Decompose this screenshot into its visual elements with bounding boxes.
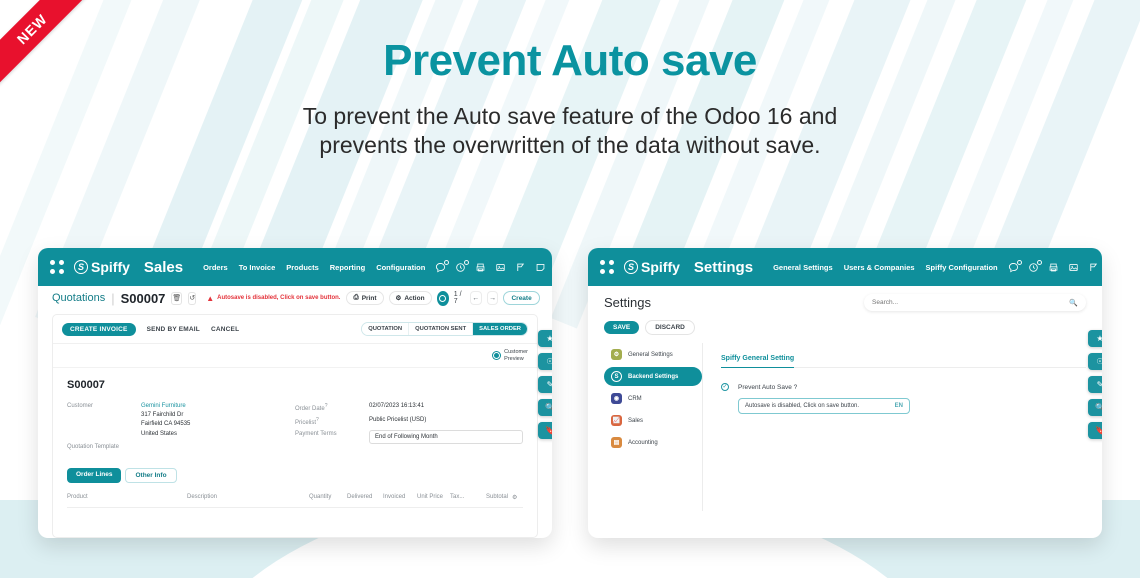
search-icon[interactable]: 🔍 — [1069, 299, 1078, 307]
record-title: S00007 — [67, 379, 523, 391]
tab-other-info[interactable]: Other Info — [125, 468, 176, 483]
navbar-menu: Orders To Invoice Products Reporting Con… — [203, 263, 425, 272]
sidebar-item-accounting[interactable]: ▤ Accounting — [604, 433, 702, 452]
menu-item-to-invoice[interactable]: To Invoice — [239, 263, 276, 272]
print-button[interactable]: ⎙ Print — [346, 291, 383, 305]
column-product: Product — [67, 494, 187, 501]
field-payment-terms-label: Payment Terms — [295, 430, 369, 437]
statusbar: CREATE INVOICE SEND BY EMAIL CANCEL QUOT… — [53, 315, 537, 344]
quotation-form: S00007 Customer Gemini Furniture 317 Fai… — [53, 368, 537, 454]
tab-order-lines[interactable]: Order Lines — [67, 468, 121, 483]
cancel-button[interactable]: CANCEL — [211, 326, 239, 333]
form-sheet: CREATE INVOICE SEND BY EMAIL CANCEL QUOT… — [52, 314, 538, 538]
customer-preview-button[interactable]: Customer Preview — [492, 349, 528, 363]
page-title: Prevent Auto save — [0, 36, 1140, 86]
gear-icon: ⚙ — [396, 294, 402, 302]
search-box[interactable]: 🔍 — [864, 294, 1086, 311]
note-icon[interactable] — [535, 262, 546, 273]
menu-item-products[interactable]: Products — [286, 263, 319, 272]
messages-badge — [444, 260, 449, 265]
send-by-email-button[interactable]: SEND BY EMAIL — [147, 326, 200, 333]
brand-logo[interactable]: S Spiffy — [624, 259, 680, 275]
column-subtotal: Subtotal — [486, 494, 508, 501]
field-customer-label: Customer — [67, 402, 141, 409]
field-customer-value-group: Gemini Furniture 317 Fairchild Dr Fairfi… — [141, 402, 190, 439]
column-unit-price: Unit Price — [417, 494, 450, 501]
breadcrumb-quotations[interactable]: Quotations — [52, 292, 105, 304]
breadcrumb-record: S00007 — [121, 291, 166, 306]
prevent-auto-save-checkbox[interactable]: ✓ — [721, 383, 729, 391]
activities-icon[interactable] — [455, 262, 466, 273]
hero-subtitle-line2: prevents the overwritten of the data wit… — [0, 131, 1140, 160]
pager-next-button[interactable]: → — [487, 291, 499, 305]
smart-button-bar: Customer Preview — [53, 344, 537, 368]
settings-header: Settings 🔍 — [588, 286, 1102, 311]
action-label: Action — [404, 295, 424, 302]
menu-item-users-companies[interactable]: Users & Companies — [844, 263, 915, 272]
customer-address-line3: United States — [141, 430, 190, 439]
search-circle-icon[interactable]: ☉ — [1088, 353, 1102, 370]
prevent-auto-save-label: Prevent Auto Save ? — [738, 384, 797, 391]
field-pricelist-label: Pricelist? — [295, 416, 369, 426]
pager-label: 1 / 7 — [454, 291, 465, 305]
field-order-date-value[interactable]: 02/07/2023 16:13:41 — [369, 402, 424, 411]
tab-spiffy-general-setting[interactable]: Spiffy General Setting — [721, 355, 794, 368]
crm-icon: ◉ — [611, 393, 622, 404]
edit-pencil-icon[interactable]: ✎ — [538, 376, 552, 393]
autosave-warning-text: Autosave is disabled, Click on save butt… — [217, 295, 340, 301]
customer-preview-label: Customer Preview — [504, 349, 528, 363]
sales-icon: 📈 — [611, 415, 622, 426]
field-customer-value[interactable]: Gemini Furniture — [141, 402, 190, 411]
menu-item-orders[interactable]: Orders — [203, 263, 228, 272]
screenshot-sales-quotation: S Spiffy Sales Orders To Invoice Product… — [38, 248, 552, 538]
sidebar-item-general-settings[interactable]: ⚙ General Settings — [604, 345, 702, 364]
field-order-date-label: Order Date? — [295, 402, 369, 412]
stage-quotation[interactable]: QUOTATION — [362, 323, 409, 335]
settings-sidebar: ⚙ General Settings S Backend Settings ◉ … — [604, 343, 702, 511]
print-label: Print — [362, 295, 377, 302]
zoom-search-icon[interactable]: 🔍 — [538, 399, 552, 416]
megaphone-icon[interactable] — [1088, 262, 1099, 273]
navbar-menu: General Settings Users & Companies Spiff… — [773, 263, 998, 272]
sidebar-item-sales-label: Sales — [628, 418, 643, 424]
form-column-right: Order Date? 02/07/2023 16:13:41 Pricelis… — [295, 402, 523, 454]
search-input[interactable] — [872, 299, 1069, 306]
spiffy-s-icon: S — [74, 260, 88, 274]
record-controls: ⎙ Print ⚙ Action 1 / 7 ← → Create — [346, 291, 539, 306]
form-sheet-wrapper: CREATE INVOICE SEND BY EMAIL CANCEL QUOT… — [38, 310, 552, 538]
action-button[interactable]: ⚙ Action — [389, 291, 432, 305]
navbar-settings: S Spiffy Settings General Settings Users… — [588, 248, 1102, 286]
trash-icon[interactable]: 🗑 — [171, 292, 182, 305]
form-columns: Customer Gemini Furniture 317 Fairchild … — [67, 402, 523, 454]
star-icon[interactable]: ★ — [538, 330, 552, 347]
search-circle-icon[interactable]: ☉ — [538, 353, 552, 370]
apps-grid-icon[interactable] — [50, 260, 64, 274]
customer-preview-line1: Customer — [504, 349, 528, 356]
undo-icon[interactable]: ↺ — [188, 292, 196, 305]
field-quotation-template: Quotation Template — [67, 443, 295, 450]
edit-pencil-icon[interactable]: ✎ — [1088, 376, 1102, 393]
printer-icon[interactable] — [1048, 262, 1059, 273]
field-pricelist: Pricelist? Public Pricelist (USD) — [295, 416, 523, 426]
pager-previous-button[interactable]: ← — [470, 291, 482, 305]
gallery-icon[interactable] — [495, 262, 506, 273]
sidebar-item-sales[interactable]: 📈 Sales — [604, 411, 702, 430]
printer-icon[interactable] — [475, 262, 486, 273]
create-button[interactable]: Create — [503, 291, 539, 305]
field-order-date: Order Date? 02/07/2023 16:13:41 — [295, 402, 523, 412]
gallery-icon[interactable] — [1068, 262, 1079, 273]
menu-item-configuration[interactable]: Configuration — [376, 263, 425, 272]
settings-action-bar: SAVE DISCARD — [588, 311, 1102, 343]
hero-subtitle: To prevent the Auto save feature of the … — [0, 102, 1140, 160]
activities-icon[interactable] — [1028, 262, 1039, 273]
activities-badge — [464, 260, 469, 265]
breadcrumb-separator: | — [111, 291, 114, 306]
settings-page-title: Settings — [604, 295, 651, 310]
printer-small-icon: ⎙ — [353, 294, 358, 302]
messages-icon[interactable] — [435, 262, 446, 273]
bookmark-icon[interactable]: 🔖 — [1088, 422, 1102, 439]
save-record-icon[interactable] — [437, 291, 449, 306]
floating-toolbar-right: ★ ☉ ✎ 🔍 🔖 — [1088, 330, 1102, 439]
stage-sales-order[interactable]: SALES ORDER — [473, 323, 527, 335]
autosave-message-input[interactable]: Autosave is disabled, Click on save butt… — [738, 398, 910, 414]
accounting-icon: ▤ — [611, 437, 622, 448]
settings-main-panel: Spiffy General Setting ✓ Prevent Auto Sa… — [702, 343, 1102, 511]
messages-icon[interactable] — [1008, 262, 1019, 273]
messages-badge — [1017, 260, 1022, 265]
prevent-auto-save-option: ✓ Prevent Auto Save ? — [721, 383, 1086, 391]
stage-pipeline: QUOTATION QUOTATION SENT SALES ORDER — [361, 322, 528, 336]
navbar-icons — [435, 258, 552, 276]
form-column-left: Customer Gemini Furniture 317 Fairchild … — [67, 402, 295, 454]
column-delivered: Delivered — [347, 494, 383, 501]
form-notebook-tabs: Order Lines Other Info — [67, 468, 523, 483]
customer-address-line1: 317 Fairchild Dr — [141, 411, 190, 420]
promo-banner: NEW Prevent Auto save To prevent the Aut… — [0, 0, 1140, 578]
sidebar-item-crm-label: CRM — [628, 396, 642, 402]
hero-section: Prevent Auto save To prevent the Auto sa… — [0, 36, 1140, 160]
spiffy-s-icon: S — [624, 260, 638, 274]
column-options-icon[interactable]: ⚙ — [512, 494, 517, 501]
discard-button[interactable]: DISCARD — [645, 320, 695, 335]
breadcrumb-bar: Quotations | S00007 🗑 ↺ ▲ Autosave is di… — [38, 286, 552, 310]
warning-triangle-icon: ▲ — [206, 294, 214, 303]
customer-address-line2: Fairfield CA 94535 — [141, 420, 190, 429]
autosave-message-value: Autosave is disabled, Click on save butt… — [745, 403, 895, 409]
general-settings-icon: ⚙ — [611, 349, 622, 360]
bookmark-icon[interactable]: 🔖 — [538, 422, 552, 439]
autosave-warning: ▲ Autosave is disabled, Click on save bu… — [206, 294, 340, 303]
sidebar-item-crm[interactable]: ◉ CRM — [604, 389, 702, 408]
globe-icon — [492, 351, 501, 360]
stage-quotation-sent[interactable]: QUOTATION SENT — [409, 323, 473, 335]
app-name-label: Settings — [694, 259, 753, 276]
column-tax: Tax... — [450, 494, 486, 501]
megaphone-icon[interactable] — [515, 262, 526, 273]
menu-item-reporting[interactable]: Reporting — [330, 263, 365, 272]
create-invoice-button[interactable]: CREATE INVOICE — [62, 323, 136, 336]
section-tab-row: Spiffy General Setting — [721, 347, 1086, 368]
navbar-sales: S Spiffy Sales Orders To Invoice Product… — [38, 248, 552, 286]
screenshot-settings: S Spiffy Settings General Settings Users… — [588, 248, 1102, 538]
column-invoiced: Invoiced — [383, 494, 417, 501]
sidebar-item-accounting-label: Accounting — [628, 440, 658, 446]
customer-preview-line2: Preview — [504, 356, 528, 363]
brand-name: Spiffy — [91, 259, 130, 275]
column-quantity: Quantity — [309, 494, 347, 501]
menu-item-spiffy-configuration[interactable]: Spiffy Configuration — [926, 263, 998, 272]
activities-badge — [1037, 260, 1042, 265]
brand-name: Spiffy — [641, 259, 680, 275]
sidebar-item-general-settings-label: General Settings — [628, 352, 673, 358]
field-customer: Customer Gemini Furniture 317 Fairchild … — [67, 402, 295, 439]
field-pricelist-value[interactable]: Public Pricelist (USD) — [369, 416, 426, 425]
hero-subtitle-line1: To prevent the Auto save feature of the … — [0, 102, 1140, 131]
apps-grid-icon[interactable] — [600, 260, 614, 274]
settings-body: ⚙ General Settings S Backend Settings ◉ … — [588, 343, 1102, 511]
sidebar-item-backend-settings-label: Backend Settings — [628, 374, 678, 380]
field-payment-terms: Payment Terms End of Following Month — [295, 430, 523, 444]
navbar-icons — [1008, 258, 1102, 276]
floating-toolbar-left: ★ ☉ ✎ 🔍 🔖 — [538, 330, 552, 439]
save-button[interactable]: SAVE — [604, 321, 639, 334]
order-lines-table-header: Product Description Quantity Delivered I… — [67, 494, 523, 508]
payment-terms-input[interactable]: End of Following Month — [369, 430, 523, 444]
app-name-label: Sales — [144, 259, 183, 276]
brand-logo[interactable]: S Spiffy — [74, 259, 130, 275]
column-description: Description — [187, 494, 309, 501]
menu-item-general-settings[interactable]: General Settings — [773, 263, 833, 272]
sidebar-item-backend-settings[interactable]: S Backend Settings — [604, 367, 702, 386]
backend-settings-icon: S — [611, 371, 622, 382]
language-badge[interactable]: EN — [895, 403, 903, 409]
field-quotation-template-label: Quotation Template — [67, 443, 141, 450]
zoom-search-icon[interactable]: 🔍 — [1088, 399, 1102, 416]
star-icon[interactable]: ★ — [1088, 330, 1102, 347]
